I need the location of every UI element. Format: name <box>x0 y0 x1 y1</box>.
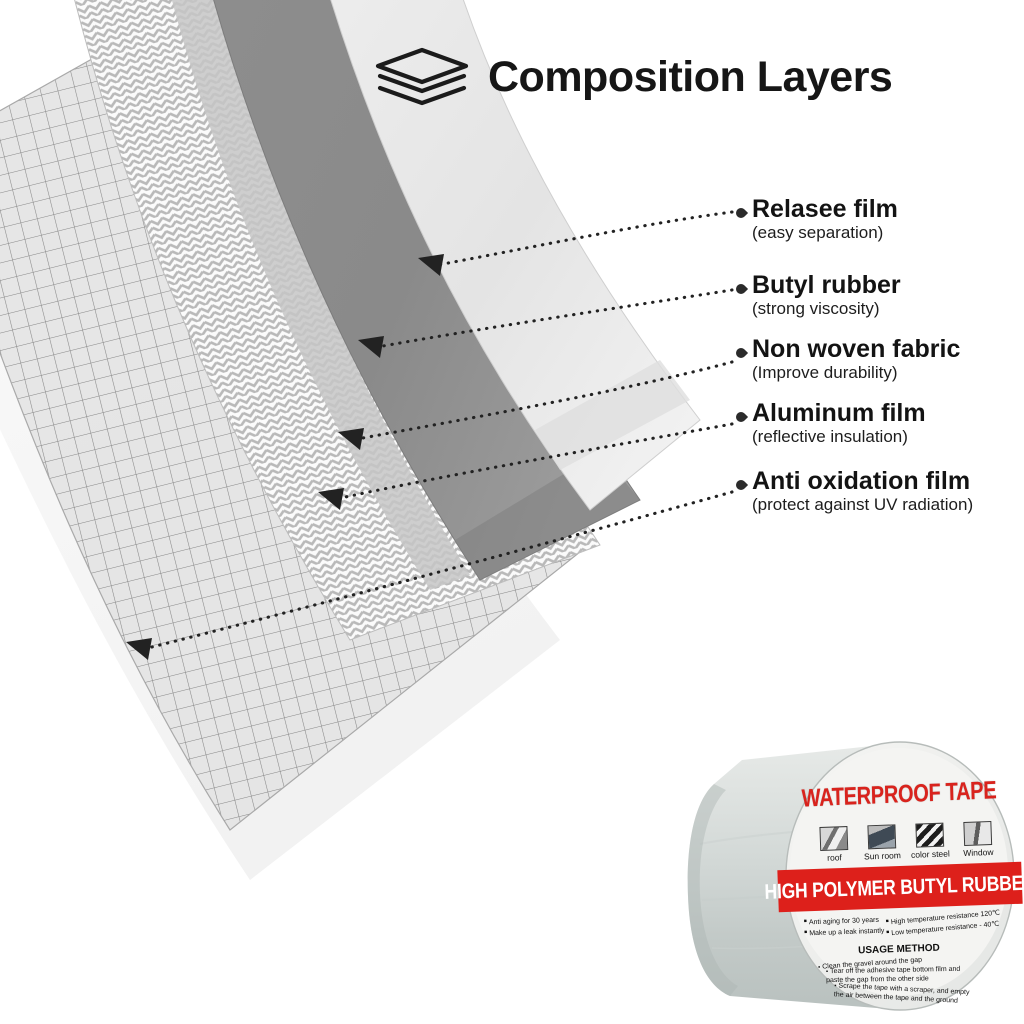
layer-title-aluminum-film: Aluminum film <box>752 400 926 426</box>
page-title: Composition Layers <box>488 56 892 99</box>
application-caption: color steel <box>911 848 950 859</box>
application-caption: Sun room <box>864 850 901 861</box>
features-left-column: Anti aging for 30 years Make up a leak i… <box>804 917 885 938</box>
product-label: WATERPROOF TAPE roof Sun room color stee… <box>790 748 1008 996</box>
callout-non-woven-fabric: Non woven fabric (Improve durability) <box>752 336 960 383</box>
layer-subtitle-non-woven-fabric: (Improve durability) <box>752 363 960 383</box>
callout-butyl-rubber: Butyl rubber (strong viscosity) <box>752 272 901 319</box>
feature-item: Anti aging for 30 years <box>804 917 884 927</box>
tape-roll-product-image: WATERPROOF TAPE roof Sun room color stee… <box>672 724 1024 1024</box>
roof-photo-icon <box>819 826 848 851</box>
layer-title-butyl-rubber: Butyl rubber <box>752 272 901 298</box>
callout-aluminum-film: Aluminum film (reflective insulation) <box>752 400 926 447</box>
sun-room-photo-icon <box>867 824 896 849</box>
product-banner: HIGH POLYMER BUTYL RUBBER <box>777 862 1022 912</box>
application-caption: Window <box>963 847 994 858</box>
layer-subtitle-butyl-rubber: (strong viscosity) <box>752 299 901 319</box>
composition-layers-infographic: Composition Layers Relasee film (easy se… <box>0 0 1024 1024</box>
layer-subtitle-anti-oxidation-film: (protect against UV radiation) <box>752 495 973 515</box>
layers-stack-icon <box>372 46 472 108</box>
application-sun-room: Sun room <box>859 824 904 862</box>
layer-title-release-film: Relasee film <box>752 196 898 222</box>
layer-subtitle-aluminum-film: (reflective insulation) <box>752 427 926 447</box>
application-color-steel: color steel <box>907 822 952 860</box>
callout-release-film: Relasee film (easy separation) <box>752 196 898 243</box>
product-banner-text: HIGH POLYMER BUTYL RUBBER <box>764 870 1024 905</box>
application-caption: roof <box>827 852 842 863</box>
color-steel-photo-icon <box>915 823 944 848</box>
usage-method-steps: Clean the gravel around the gap Tear off… <box>816 958 988 1003</box>
page-header: Composition Layers <box>372 46 892 108</box>
layer-subtitle-release-film: (easy separation) <box>752 223 898 243</box>
callout-anti-oxidation-film: Anti oxidation film (protect against UV … <box>752 468 973 515</box>
window-photo-icon <box>963 821 992 846</box>
layer-title-non-woven-fabric: Non woven fabric <box>752 336 960 362</box>
application-thumbnails: roof Sun room color steel Window <box>811 821 1000 864</box>
layer-title-anti-oxidation-film: Anti oxidation film <box>752 468 973 494</box>
application-roof: roof <box>811 826 856 864</box>
application-window: Window <box>955 821 1000 859</box>
